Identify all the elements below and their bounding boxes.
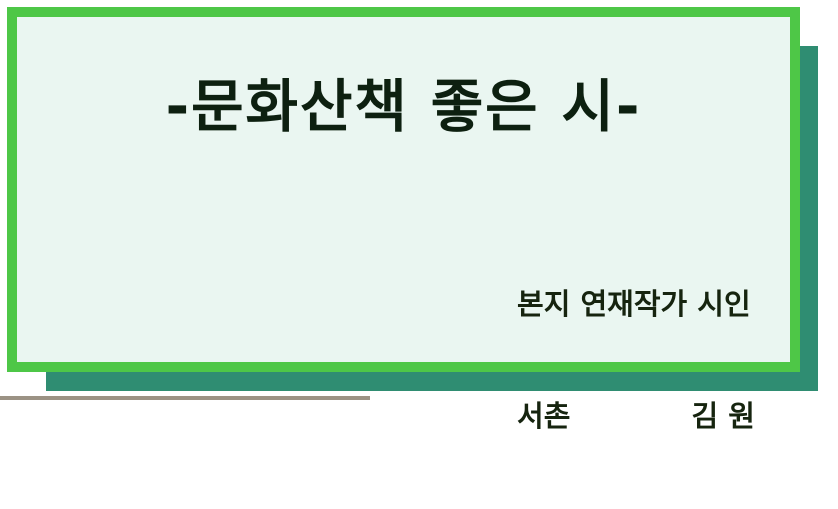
card-green-frame: -문화산책 좋은 시- 본지 연재작가 시인 서촌 김 원 bbox=[7, 7, 800, 372]
card-inner-surface: -문화산책 좋은 시- 본지 연재작가 시인 서촌 김 원 bbox=[17, 17, 790, 362]
page-title: -문화산책 좋은 시- bbox=[17, 79, 790, 136]
byline-line-role: 본지 연재작가 시인 bbox=[517, 286, 755, 323]
byline-line-author: 서촌 김 원 bbox=[517, 398, 755, 435]
bottom-edge-strip bbox=[0, 396, 370, 400]
slide-canvas: -문화산책 좋은 시- 본지 연재작가 시인 서촌 김 원 bbox=[0, 0, 838, 404]
byline: 본지 연재작가 시인 서촌 김 원 bbox=[517, 212, 755, 509]
